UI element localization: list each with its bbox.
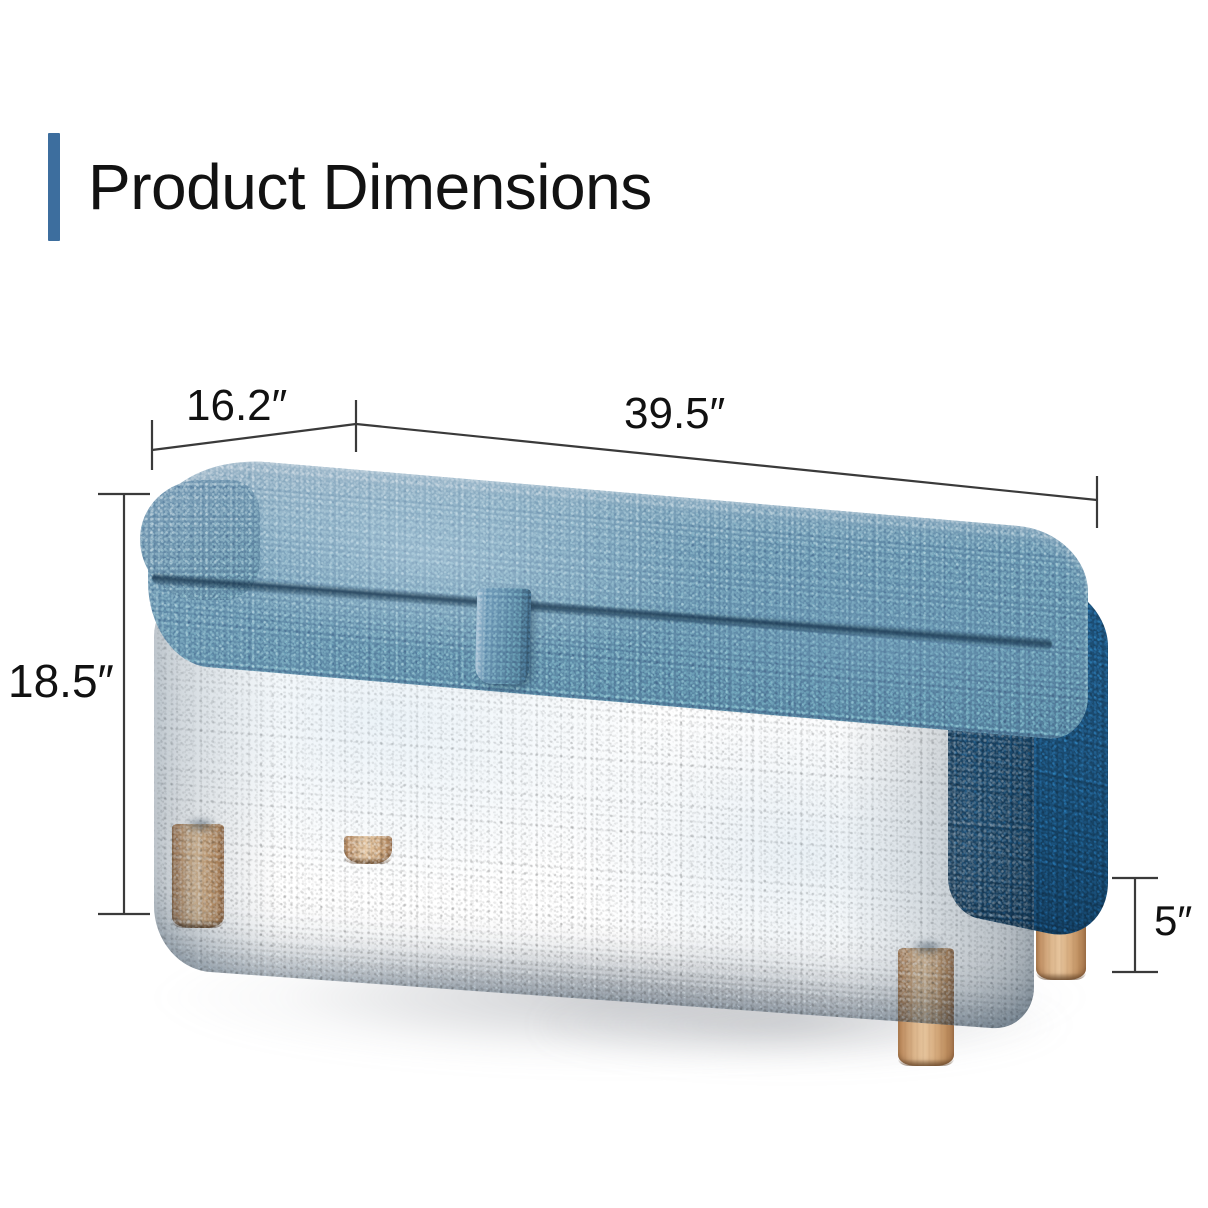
dimension-label-depth: 16.2″ (186, 384, 287, 428)
fabric-texture-fine (475, 587, 531, 684)
bench-body (148, 452, 1108, 972)
dimension-label-width: 39.5″ (624, 392, 725, 436)
bench-lid-handle (475, 587, 531, 684)
dimension-label-height: 18.5″ (8, 658, 114, 704)
leg-contact-shadow-front-right (902, 938, 954, 962)
product-image (0, 0, 1208, 1208)
dimension-label-leg-height: 5″ (1154, 900, 1192, 942)
leg-contact-shadow-front-left (178, 816, 224, 838)
product-dimensions-page: Product Dimensions (0, 0, 1208, 1208)
